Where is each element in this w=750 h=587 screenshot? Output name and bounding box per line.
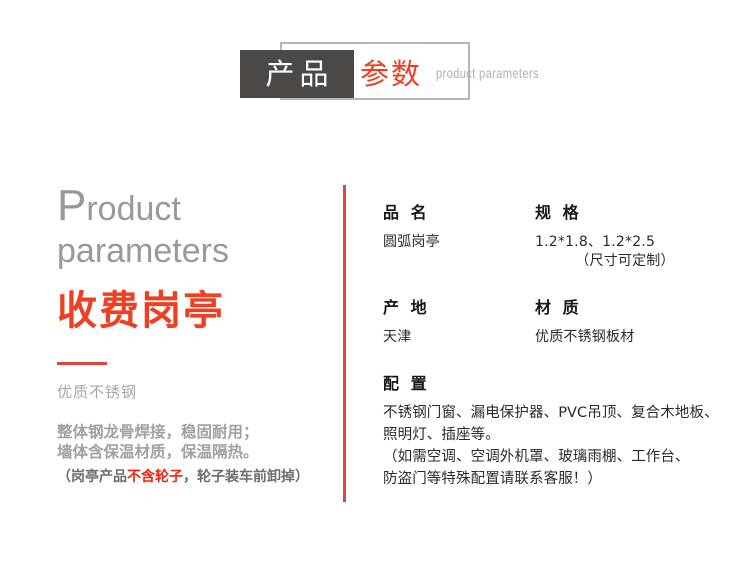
spec-cell-material: 材 质 优质不锈钢板材	[535, 297, 733, 347]
spec-value: 圆弧岗亭	[383, 233, 535, 252]
product-name-heading: 收费岗亭	[57, 288, 332, 334]
header-banner: 产品 参数 product parameters	[0, 0, 750, 150]
spec-label: 规 格	[535, 202, 733, 224]
red-rule-divider	[57, 362, 107, 365]
feature-list: 整体钢龙骨焊接，稳固耐用； 墙体含保温材质，保温隔热。	[57, 422, 332, 462]
spec-label: 产 地	[383, 297, 535, 319]
spec-row: 产 地 天津 材 质 优质不锈钢板材	[383, 297, 733, 347]
config-line-4: 防盗门等特殊配置请联系客服！）	[383, 468, 735, 490]
wheels-note-prefix: （岗亭产品	[57, 469, 127, 485]
wheels-note: （岗亭产品不含轮子，轮子装车前卸掉）	[57, 467, 332, 487]
feature-line-2: 墙体含保温材质，保温隔热。	[57, 442, 332, 462]
header-title-accent: 参数	[360, 50, 422, 98]
heading-cap-letter: P	[57, 181, 86, 230]
spec-value-main: 优质不锈钢板材	[535, 329, 634, 345]
product-parameters-heading: Product parameters	[57, 185, 332, 272]
heading-line-two: parameters	[57, 232, 229, 270]
material-subtitle: 优质不锈钢	[57, 382, 332, 402]
spec-cell-product-name: 品 名 圆弧岗亭	[383, 202, 535, 271]
config-line-1: 不锈钢门窗、漏电保护器、PVC吊顶、复合木地板、	[383, 402, 735, 424]
config-line-3: （如需空调、空调外机罩、玻璃雨棚、工作台、	[383, 446, 735, 468]
heading-word-rest: roduct	[86, 190, 181, 228]
wheels-note-highlight: 不含轮子	[127, 469, 183, 485]
wheels-note-suffix: ，轮子装车前卸掉）	[183, 469, 309, 485]
spec-cell-configuration: 配 置 不锈钢门窗、漏电保护器、PVC吊顶、复合木地板、 照明灯、插座等。 （如…	[383, 373, 733, 490]
spec-value: 不锈钢门窗、漏电保护器、PVC吊顶、复合木地板、 照明灯、插座等。 （如需空调、…	[383, 402, 735, 490]
spec-value-main: 圆弧岗亭	[383, 234, 440, 250]
config-line-2: 照明灯、插座等。	[383, 424, 735, 446]
spec-value: 1.2*1.8、1.2*2.5 （尺寸可定制）	[535, 233, 733, 271]
spec-label: 配 置	[383, 373, 733, 395]
spec-table: 品 名 圆弧岗亭 规 格 1.2*1.8、1.2*2.5 （尺寸可定制） 产 地…	[383, 202, 733, 490]
spec-cell-origin: 产 地 天津	[383, 297, 535, 347]
spec-value: 优质不锈钢板材	[535, 328, 733, 347]
header-subtitle-english: product parameters	[436, 62, 539, 84]
spec-value: 天津	[383, 328, 535, 347]
vertical-divider	[343, 185, 346, 502]
spec-value-main: 天津	[383, 329, 411, 345]
header-title-primary: 产品	[240, 50, 354, 98]
spec-value-main: 1.2*1.8、1.2*2.5	[535, 234, 655, 250]
left-column: Product parameters 收费岗亭 优质不锈钢 整体钢龙骨焊接，稳固…	[57, 185, 332, 487]
feature-line-1: 整体钢龙骨焊接，稳固耐用；	[57, 422, 332, 442]
spec-label: 品 名	[383, 202, 535, 224]
content-area: Product parameters 收费岗亭 优质不锈钢 整体钢龙骨焊接，稳固…	[0, 150, 750, 587]
spec-label: 材 质	[535, 297, 733, 319]
spec-value-sub: （尺寸可定制）	[535, 252, 733, 271]
spec-row: 品 名 圆弧岗亭 规 格 1.2*1.8、1.2*2.5 （尺寸可定制）	[383, 202, 733, 271]
spec-cell-specification: 规 格 1.2*1.8、1.2*2.5 （尺寸可定制）	[535, 202, 733, 271]
